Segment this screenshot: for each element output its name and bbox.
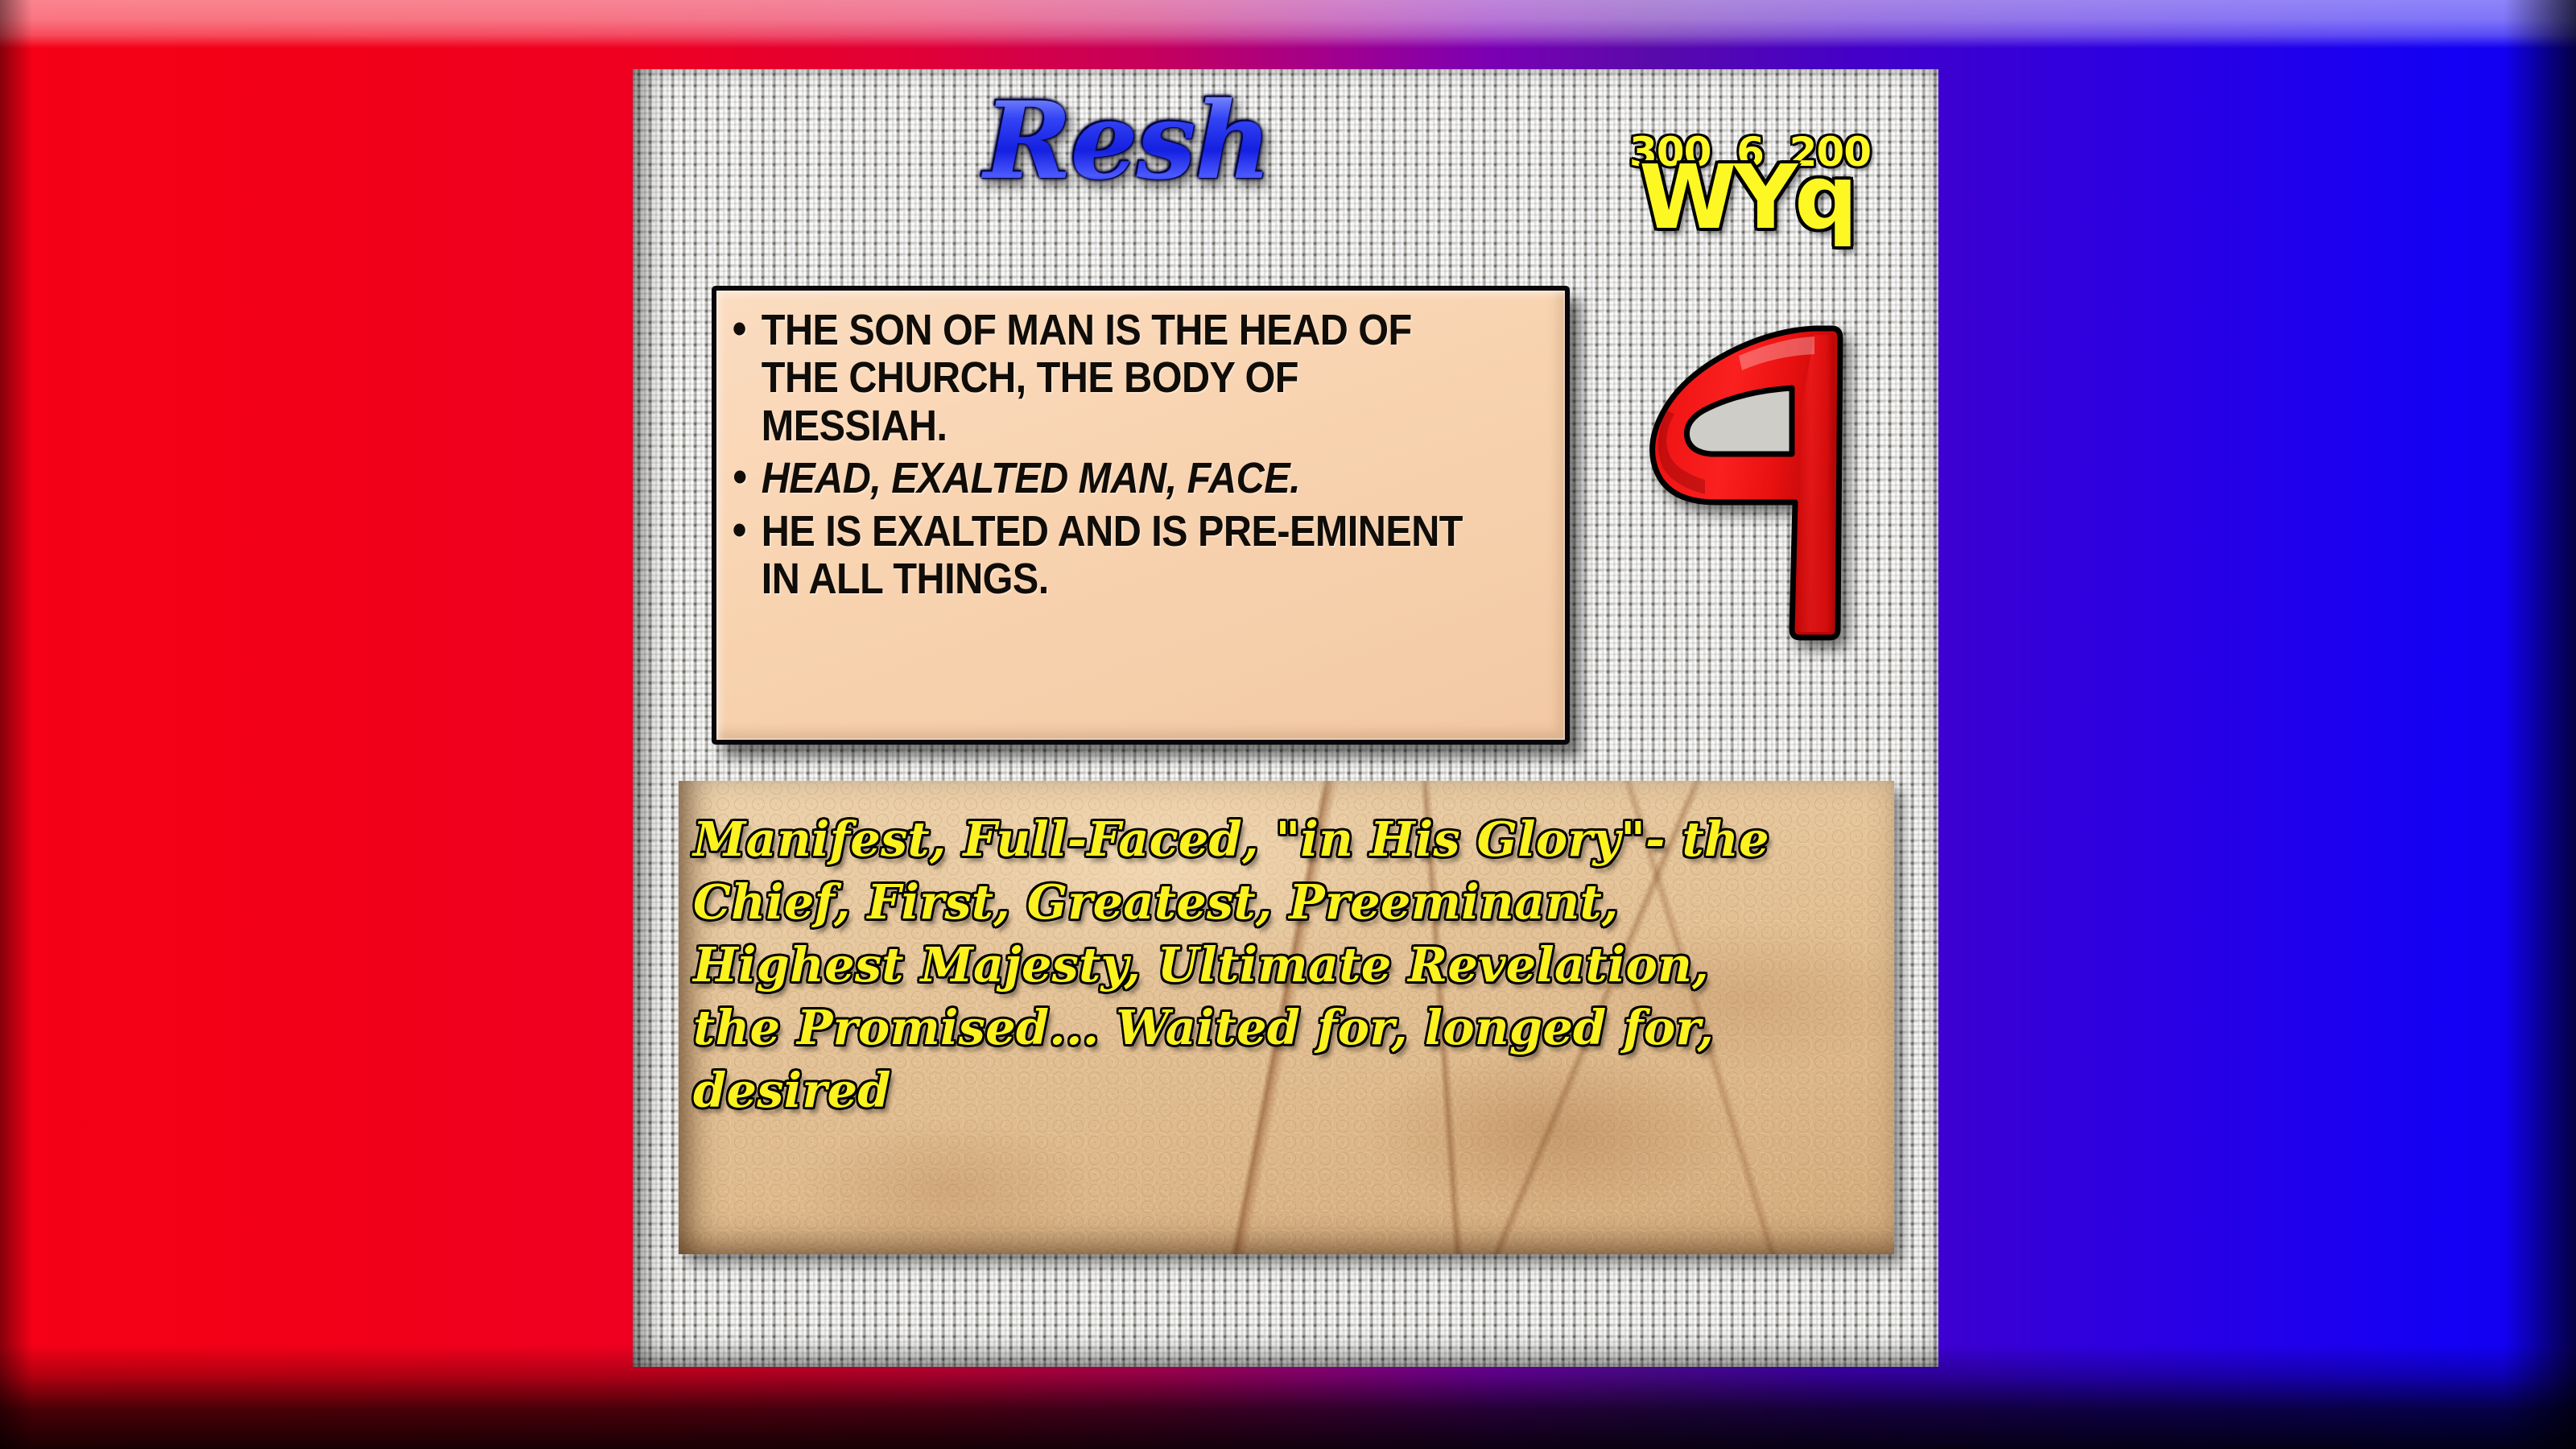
bullet-item-2: HEAD, EXALTED MAN, FACE. (731, 455, 1466, 502)
scroll-line-3: Highest Majesty, Ultimate Revelation, (693, 934, 1870, 997)
bullet-item-1: THE SON OF MAN IS THE HEAD OF THE CHURCH… (731, 307, 1466, 450)
page-title: Resh (918, 89, 1336, 195)
paleo-hebrew-letters: WYq (1618, 153, 1876, 242)
bullet-text-box: THE SON OF MAN IS THE HEAD OF THE CHURCH… (712, 286, 1570, 745)
slide-stage: Resh 300 6 200 WYq (0, 0, 2576, 1449)
background-right-vignette (2504, 0, 2576, 1449)
bullet-list: THE SON OF MAN IS THE HEAD OF THE CHURCH… (731, 307, 1547, 603)
scroll-line-1: Manifest, Full-Faced, "in His Glory"- th… (693, 808, 1870, 871)
background-top-highlight (0, 0, 2576, 48)
paleo-hebrew-resh-icon (1642, 314, 1843, 644)
scroll-line-4: the Promised... Waited for, longed for, (693, 997, 1870, 1059)
parchment-panel: Manifest, Full-Faced, "in His Glory"- th… (679, 781, 1894, 1254)
scroll-line-5: desired (693, 1059, 1870, 1122)
bullet-item-3: HE IS EXALTED AND IS PRE-EMINENT IN ALL … (731, 508, 1466, 604)
background-left-vignette (0, 0, 32, 1449)
scroll-line-2: Chief, First, Greatest, Preeminant, (693, 871, 1870, 934)
